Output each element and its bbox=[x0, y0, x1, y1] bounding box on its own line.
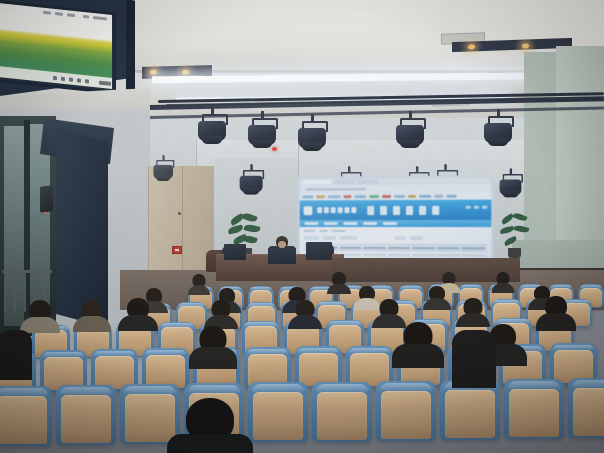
table-toolbar bbox=[304, 235, 488, 240]
seat bbox=[312, 382, 372, 442]
nav-item-4 bbox=[363, 222, 377, 225]
audience-person bbox=[124, 298, 152, 326]
nav-item-1 bbox=[305, 222, 319, 225]
desk-monitor-right bbox=[306, 242, 332, 260]
audience-person bbox=[400, 322, 436, 358]
warm-spotlight-3 bbox=[468, 44, 475, 49]
nav-item-2 bbox=[324, 222, 338, 225]
audience-person bbox=[196, 326, 230, 360]
wall-mounted-speaker bbox=[40, 185, 53, 212]
emergency-notice-sign-inner bbox=[175, 249, 179, 251]
railing-post-1 bbox=[4, 272, 6, 312]
suspended-dark-column bbox=[56, 128, 108, 328]
seat bbox=[376, 381, 436, 441]
seat bbox=[120, 384, 180, 444]
audience-person bbox=[180, 398, 240, 453]
seat bbox=[248, 382, 308, 442]
overhead-monitor bbox=[0, 0, 116, 94]
app-logo-icon bbox=[304, 206, 313, 215]
audience-person bbox=[494, 272, 512, 290]
auditorium-photo bbox=[0, 0, 604, 453]
audience-person bbox=[190, 274, 208, 292]
audience-person bbox=[452, 330, 496, 388]
presenter-laptop bbox=[268, 248, 296, 264]
bulkhead-edge bbox=[126, 0, 135, 91]
presenter-face bbox=[278, 241, 286, 248]
truss-indicator-led bbox=[272, 147, 277, 151]
app-header-actions bbox=[466, 206, 488, 209]
overhead-monitor-screen bbox=[0, 3, 112, 89]
audience-person bbox=[542, 296, 570, 326]
audience-person bbox=[376, 299, 402, 325]
app-title-large bbox=[367, 205, 439, 214]
audience-person bbox=[208, 300, 234, 326]
browser-address-bar bbox=[303, 185, 489, 192]
warm-spotlight-1 bbox=[150, 70, 157, 75]
browser-tab-strip bbox=[300, 177, 492, 185]
address-bar-text bbox=[306, 188, 367, 190]
presentation-desk-extension bbox=[330, 258, 520, 282]
emergency-notice-sign bbox=[172, 246, 182, 254]
audience-person bbox=[356, 286, 378, 308]
breadcrumb bbox=[304, 230, 488, 232]
audience-person bbox=[426, 286, 448, 308]
audience-person bbox=[292, 300, 318, 326]
app-header-banner bbox=[300, 200, 492, 220]
plant-pot-right bbox=[508, 248, 521, 258]
warm-spotlight-4 bbox=[522, 43, 529, 48]
browser-tab-active bbox=[303, 179, 332, 184]
potted-plant-right bbox=[500, 212, 530, 260]
nav-item-3 bbox=[344, 222, 358, 225]
railing-post-2 bbox=[14, 272, 16, 312]
wall-fixing-dot bbox=[178, 212, 181, 215]
seat bbox=[504, 379, 564, 439]
seat bbox=[56, 385, 116, 445]
seat bbox=[0, 386, 52, 446]
desk-monitor-left bbox=[224, 244, 246, 260]
browser-tab-3 bbox=[357, 179, 379, 184]
audience-person bbox=[26, 300, 54, 328]
audience-person bbox=[330, 272, 348, 290]
nav-item-5 bbox=[383, 222, 397, 225]
audience-person bbox=[460, 298, 486, 324]
speaker-indicator-led bbox=[44, 212, 47, 214]
seat bbox=[568, 378, 604, 438]
seat bbox=[440, 380, 500, 440]
warm-spotlight-2 bbox=[182, 70, 189, 75]
app-title-text bbox=[317, 207, 356, 213]
audience-person bbox=[78, 300, 106, 328]
audience-person bbox=[0, 330, 32, 380]
browser-tab-2 bbox=[334, 179, 356, 184]
